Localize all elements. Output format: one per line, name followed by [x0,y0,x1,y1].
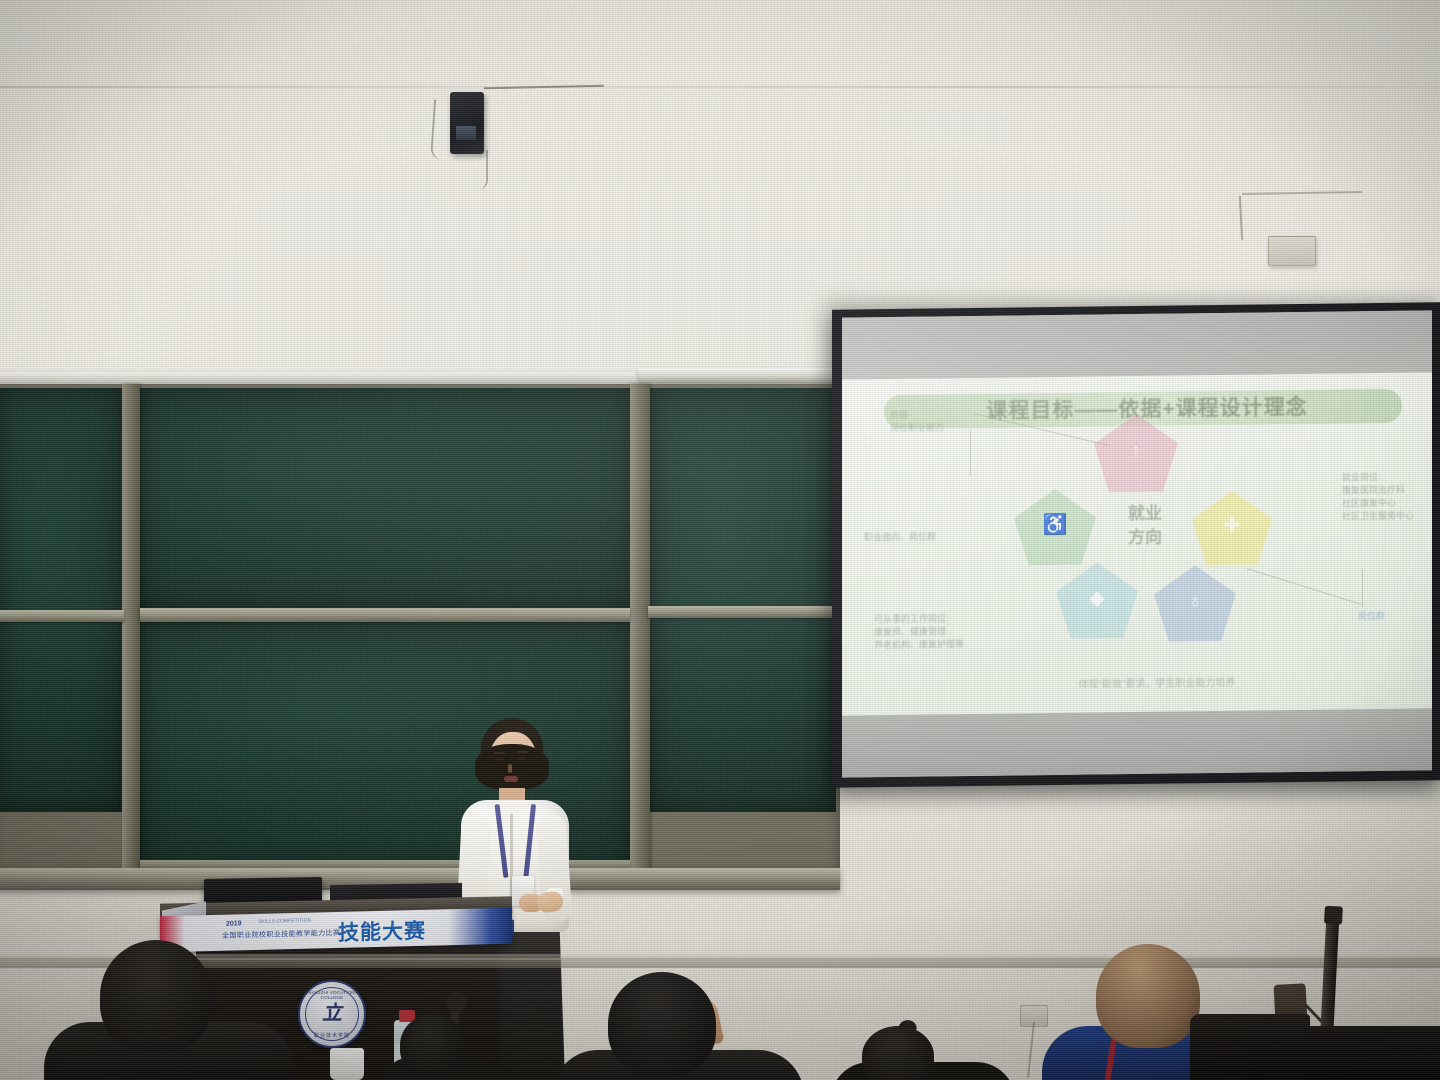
presenter-brow-right [517,751,528,753]
banner-tiny-text: SKILLS COMPETITION [258,918,311,925]
device-led [456,126,476,140]
emblem-mark-icon: 立 [322,997,342,1026]
slide-label-top-left: 依据 岗位职业能力 [890,408,1010,435]
blackboard-crossbar-right [648,606,840,618]
presenter-brow-left [494,752,505,754]
connector-line-top-vertical [970,430,971,476]
slide-label-bottom-center: 体现“能做”要求，学生职业能力培养 [992,676,1322,693]
blackboard-panel [140,388,630,610]
audience-head [608,972,716,1076]
blackboard-mullion [122,384,140,876]
screen-letterbox-top [842,310,1432,379]
pentagon-left: ♿ [1014,488,1096,565]
slide-label-mid-left: 职业面向、岗位群 [864,530,954,544]
slide-title-bar [884,389,1402,429]
slide-label-bottom-left-1: 可从事的工作岗位: [874,611,1024,626]
package-box-icon: ◆ [1056,588,1138,609]
blackboard-panel [0,388,122,812]
slide-label-top-left-2: 岗位职业能力 [890,421,1010,435]
school-emblem: CHANGZHI VOCATIONAL COLLEGE 立 职业技术学院 [298,980,366,1048]
presenter-mouth [504,776,518,782]
presenter-nose [508,764,512,773]
screen-surface: 课程目标——依据+课程设计理念 ↑ ♿ ✚ ◆ ♁ [842,310,1432,777]
audience-member [840,1010,1000,1080]
audience-head [100,940,212,1052]
blackboard-mullion [630,384,650,876]
wall-seam [0,86,1440,88]
slide-label-right-2: 康复医院治疗科 [1342,483,1432,497]
power-outlet-icon [1268,236,1316,266]
slide-label-bottom-left-3: 养老机构、康复护理等 [874,637,1024,652]
classroom-photo: 课程目标——依据+课程设计理念 ↑ ♿ ✚ ◆ ♁ [0,0,1440,1080]
slide-label-right-4: 社区卫生服务中心 [1342,509,1432,523]
projection-screen: 课程目标——依据+课程设计理念 ↑ ♿ ✚ ◆ ♁ [832,302,1440,787]
pentagon-bottom-right: ♁ [1154,565,1236,642]
runner-icon: ♁ [1154,591,1236,612]
slide-label-right-1: 就业岗位: [1342,470,1432,484]
audience-member [380,1008,500,1080]
audience-head [862,1026,934,1080]
slide-label-right-3: 社区康复中心 [1342,496,1432,510]
blackboard-panel [650,388,836,812]
blackboard-frame [0,384,840,876]
audience-member [50,930,280,1080]
slide-label-right: 就业岗位: 康复医院治疗科 社区康复中心 社区卫生服务中心 [1342,470,1432,523]
slide-center-label: 就业 方向 [1100,501,1190,550]
slide-label-bottom-left-2: 康复师、健康管理 [874,624,1024,639]
banner-year: 2019 [226,920,242,927]
presenter-eye-right [518,757,526,760]
audience-head [400,1014,466,1076]
audience-member [562,950,792,1080]
blackboard-top-rail-right [638,368,843,382]
medical-cross-icon: ✚ [1192,515,1272,536]
connector-line-bottom [1247,568,1361,605]
blackboard-crossbar [140,608,630,622]
connector-line-bottom-vertical [1362,569,1363,607]
presentation-slide: 课程目标——依据+课程设计理念 ↑ ♿ ✚ ◆ ♁ [842,372,1432,715]
blackboard-crossbar-left [0,610,124,622]
pentagon-right: ✚ [1192,490,1272,565]
tripod-head [1324,906,1343,925]
blackboard [0,372,840,888]
slide-label-top-left-1: 依据 [890,408,1010,422]
paper-cup [330,1048,364,1080]
presenter-hair-back [475,744,549,790]
banner-main-title: 技能大赛 [338,915,426,947]
slide-label-blue: 岗位群 [1358,609,1385,622]
wheelchair-icon: ♿ [1014,514,1096,535]
device-wire-right [470,150,488,190]
tripod-base [1244,1026,1440,1080]
emblem-bottom-text: 职业技术学院 [300,1032,364,1039]
wall-sensor-icon [450,92,484,154]
slide-label-bottom-left: 可从事的工作岗位: 康复师、健康管理 养老机构、康复护理等 [874,611,1024,652]
pentagon-top: ↑ [1094,413,1178,492]
connector-line-top [974,413,1110,446]
person-exercise-icon: ↑ [1094,440,1178,461]
pentagon-bottom-left: ◆ [1056,562,1138,639]
center-label-line2: 方向 [1100,525,1190,550]
presenter-eye-left [495,758,503,761]
device-wire [484,85,604,104]
audience-head [1096,944,1200,1048]
slide-title: 课程目标——依据+课程设计理念 [912,393,1382,427]
center-label-line1: 就业 [1100,501,1190,526]
